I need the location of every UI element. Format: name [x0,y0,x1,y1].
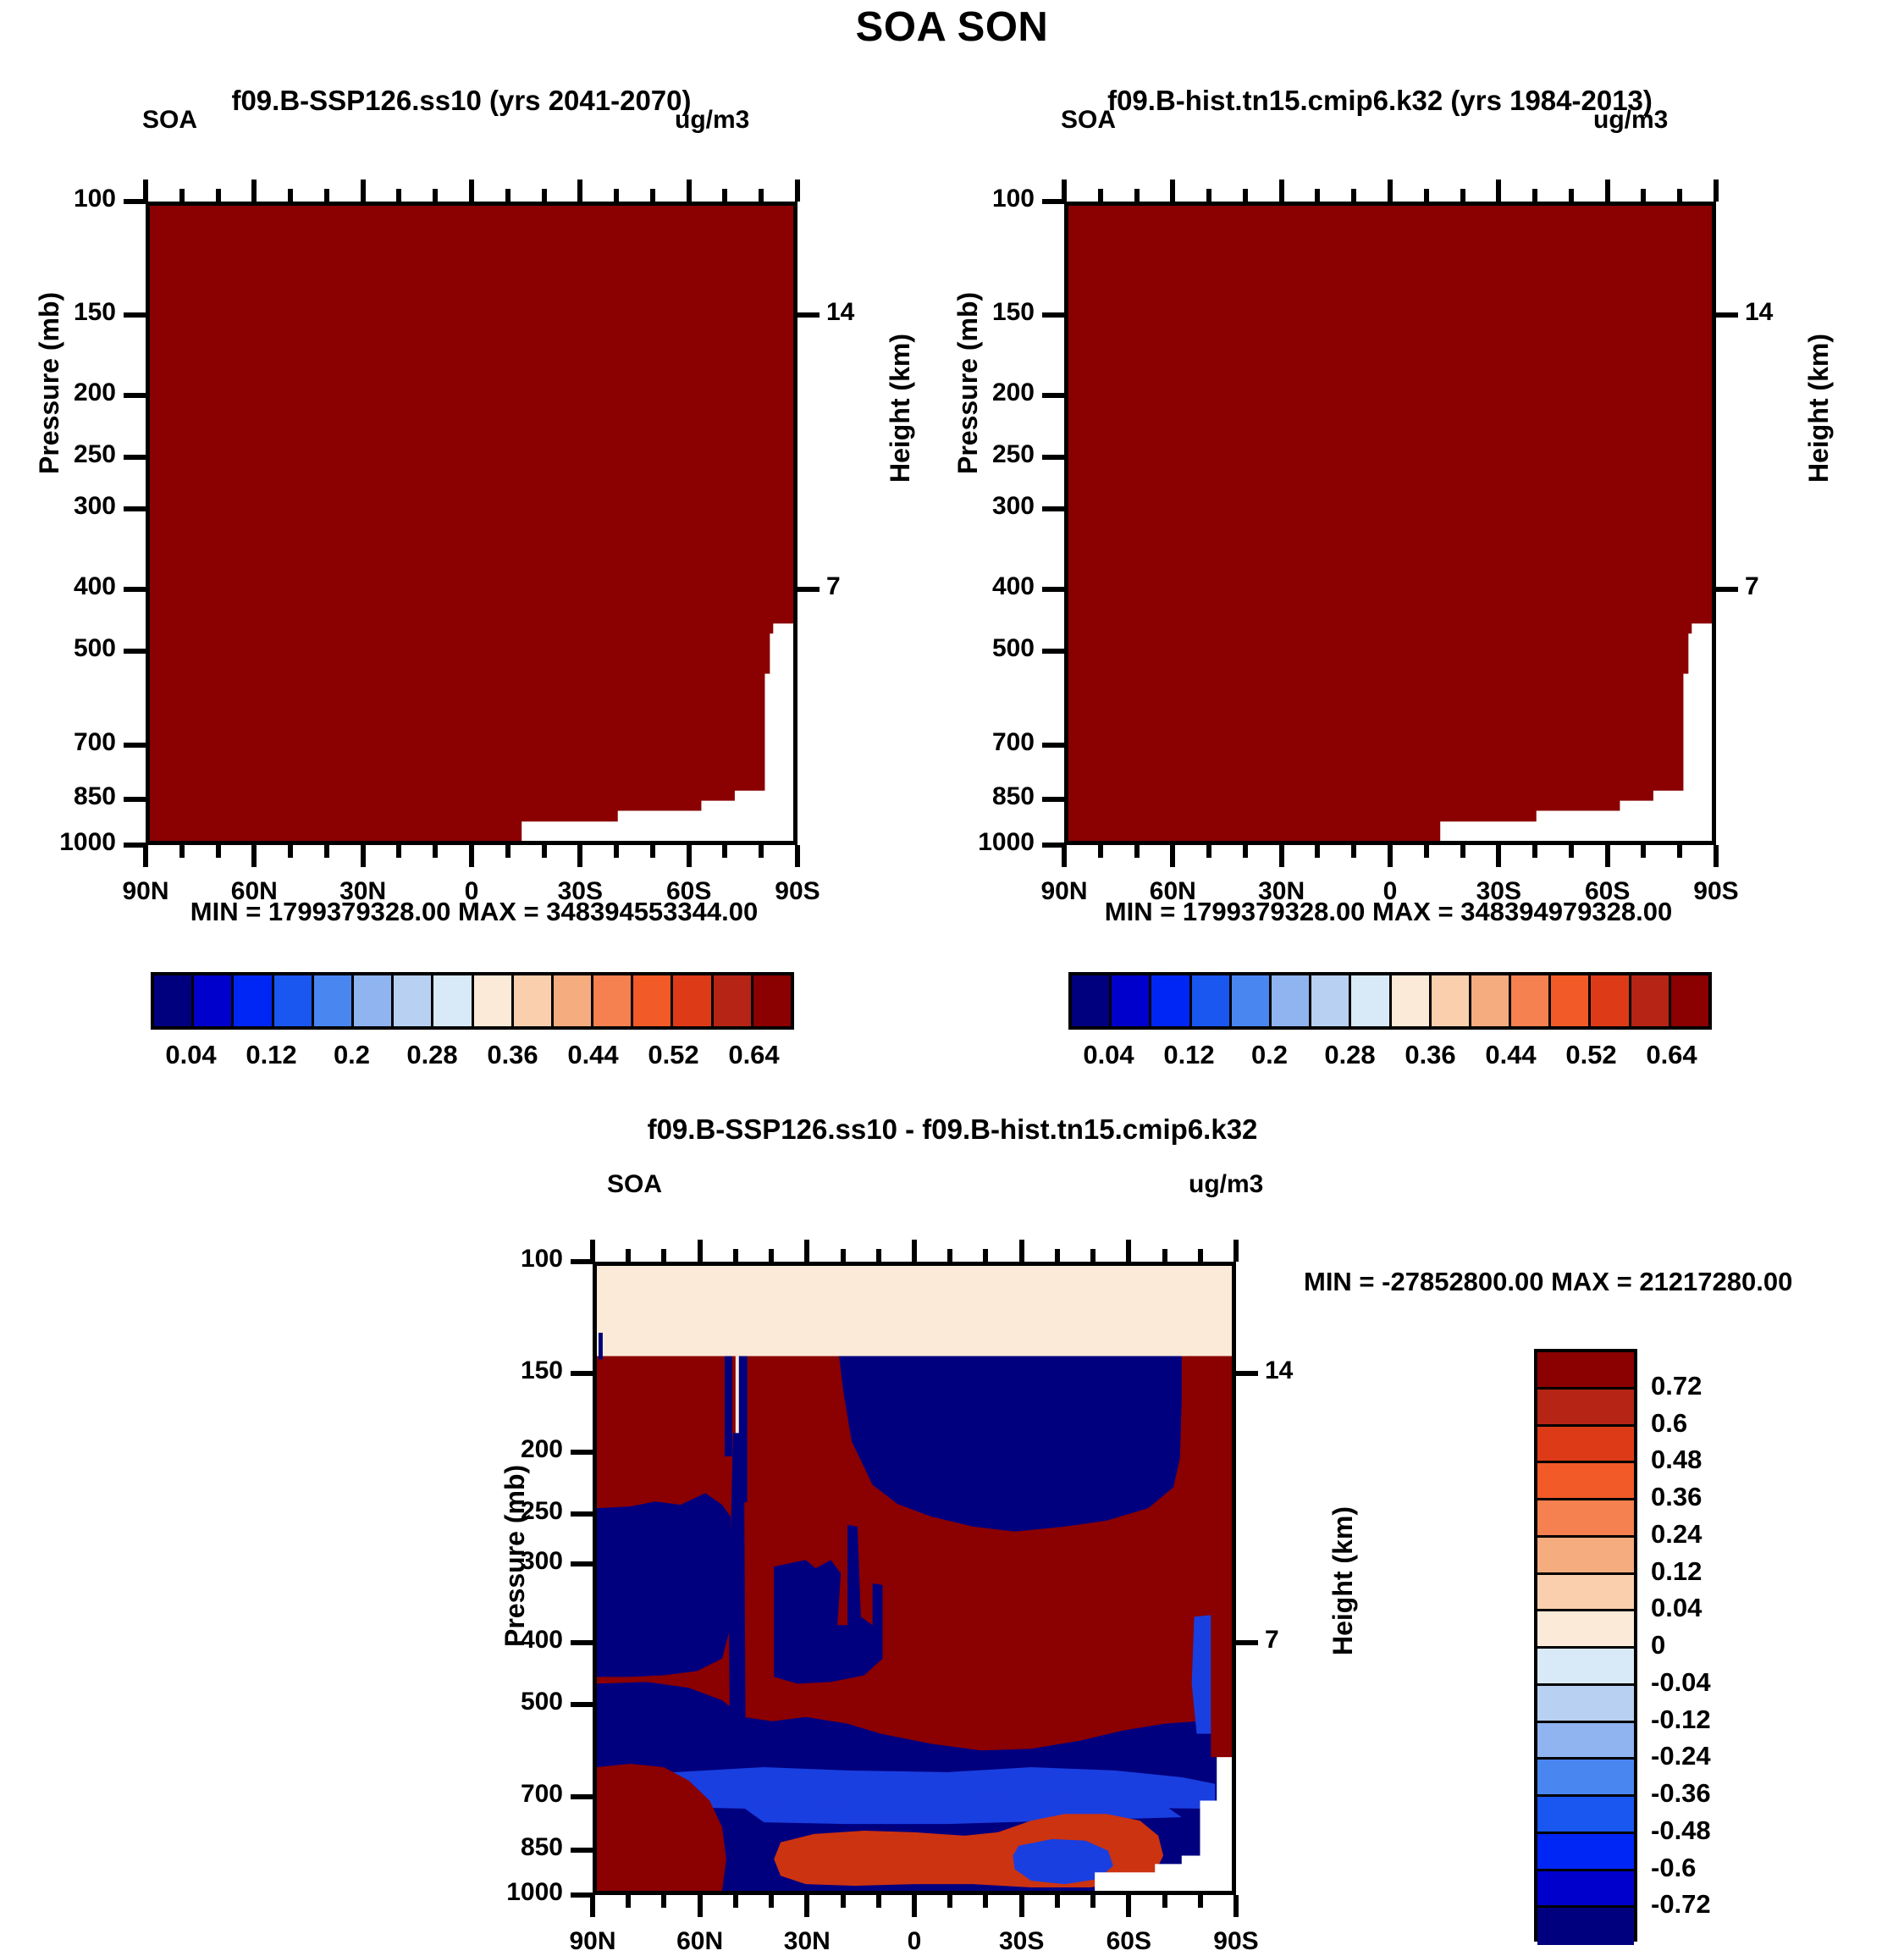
colorbar-cell [154,975,194,1026]
colorbar-tick-label: 0.28 [1324,1040,1375,1070]
colorbar-cell [1151,975,1191,1026]
right-colorbar-labels: 0.040.120.20.280.360.440.520.64 [1068,1040,1712,1074]
lat-minor-tick [216,845,221,858]
pressure-tick [571,1848,593,1853]
lat-minor-tick [1351,845,1356,858]
lat-major-tick [1714,845,1719,867]
legend-tick-label: -0.12 [1651,1705,1711,1735]
lat-minor-tick [626,1895,631,1908]
colorbar-cell [1272,975,1311,1026]
colorbar-cell [1511,975,1551,1026]
colorbar-cell [1591,975,1631,1026]
lat-major-tick [1233,1895,1239,1917]
right-height-axis-title: Height (km) [1803,334,1835,483]
colorbar-tick-label: 0.12 [246,1040,296,1070]
lat-minor-tick-top [1460,189,1465,202]
lat-minor-tick [505,845,510,858]
colorbar-cell [1671,975,1708,1026]
pressure-tick [124,393,146,398]
colorbar-cell [1351,975,1391,1026]
lat-minor-tick [1424,845,1429,858]
lat-major-tick-top [795,180,800,202]
legend-cell [1537,1871,1634,1909]
lat-minor-tick [733,1895,738,1908]
colorbar-tick-label: 0.04 [1083,1040,1134,1070]
diff-colorbar[interactable] [1534,1349,1637,1942]
lat-major-tick-top [1019,1240,1024,1262]
colorbar-tick-label: 0.28 [406,1040,457,1070]
colorbar-cell [474,975,514,1026]
pressure-tick-label: 250 [444,1497,563,1526]
lat-major-tick [361,845,366,867]
lat-major-tick-top [1233,1240,1239,1262]
pressure-tick-label: 150 [916,298,1035,327]
right-panel-variable-label: SOA [1061,106,1116,135]
lat-major-tick [795,845,800,867]
legend-tick-label: -0.24 [1651,1741,1711,1771]
colorbar-cell [514,975,554,1026]
pressure-tick [124,743,146,748]
lat-major-tick [143,845,148,867]
legend-cell [1537,1723,1634,1760]
lat-minor-tick-top [983,1249,988,1262]
lat-minor-tick [947,1895,952,1908]
pressure-tick-label: 250 [0,440,116,469]
legend-tick-label: -0.36 [1651,1778,1711,1809]
lat-major-tick [1126,1895,1131,1917]
lat-major-tick-top [1170,180,1175,202]
lat-minor-tick [179,845,185,858]
lat-major-tick-top [143,180,148,202]
lat-major-tick [1279,845,1284,867]
pressure-tick [1042,743,1064,748]
pressure-tick [1042,649,1064,654]
colorbar-tick-label: 0.2 [334,1040,370,1070]
lat-minor-tick [1098,845,1103,858]
lat-major-tick [469,845,474,867]
lat-major-tick-top [361,180,366,202]
pressure-tick-label: 500 [0,634,116,663]
lat-minor-tick [614,845,619,858]
lat-minor-tick [661,1895,666,1908]
lat-minor-tick-top [1641,189,1646,202]
lat-minor-tick-top [1315,189,1320,202]
lat-minor-tick-top [769,1249,774,1262]
legend-tick-label: 0.6 [1651,1408,1687,1439]
diff-panel-variable-label: SOA [607,1170,662,1199]
lat-major-tick-top [469,180,474,202]
colorbar-cell [314,975,354,1026]
lat-minor-tick [542,845,547,858]
pressure-tick-label: 1000 [916,828,1035,857]
pressure-tick-label: 400 [444,1626,563,1655]
pressure-tick-label: 1000 [0,828,116,857]
colorbar-tick-label: 0.36 [1405,1040,1455,1070]
pressure-tick [571,1511,593,1517]
height-tick [1716,312,1738,318]
lat-minor-tick-top [1162,1249,1167,1262]
lat-major-tick [1019,1895,1024,1917]
lat-major-tick [698,1895,703,1917]
colorbar-cell [234,975,273,1026]
left-panel-variable-label: SOA [142,106,197,135]
pressure-tick [124,649,146,654]
right-panel-units-label: ug/m3 [1593,106,1668,135]
lat-minor-tick [1134,845,1140,858]
pressure-tick [1042,797,1064,802]
pressure-tick-label: 400 [916,572,1035,601]
lat-major-tick [912,1895,917,1917]
colorbar-cell [633,975,673,1026]
lat-minor-tick [1641,845,1646,858]
colorbar-cell [394,975,433,1026]
legend-cell [1537,1427,1634,1464]
lat-minor-tick-top [733,1249,738,1262]
lat-minor-tick-top [216,189,221,202]
lat-minor-tick [1198,1895,1203,1908]
colorbar-cell [1112,975,1151,1026]
legend-tick-label: -0.6 [1651,1853,1696,1883]
lat-minor-tick [1460,845,1465,858]
lat-minor-tick-top [1351,189,1356,202]
pressure-tick [124,797,146,802]
lat-tick-label: 90S [721,877,874,906]
pressure-tick [124,312,146,318]
lat-minor-tick [396,845,401,858]
lat-major-tick [577,845,582,867]
lat-minor-tick [1206,845,1211,858]
lat-minor-tick-top [1055,1249,1060,1262]
legend-tick-label: 0.24 [1651,1519,1702,1550]
lat-major-tick-top [698,1240,703,1262]
legend-tick-label: -0.72 [1651,1889,1711,1920]
pressure-tick [1042,455,1064,460]
colorbar-cell [714,975,753,1026]
lat-minor-tick-top [288,189,293,202]
lat-major-tick [804,1895,809,1917]
legend-cell [1537,1908,1634,1945]
lat-major-tick [1170,845,1175,867]
left-colorbar-labels: 0.040.120.20.280.360.440.520.64 [151,1040,794,1074]
lat-major-tick-top [590,1240,595,1262]
colorbar-cell [1631,975,1671,1026]
lat-minor-tick [324,845,329,858]
pressure-tick-label: 500 [916,634,1035,663]
lat-minor-tick [1243,845,1248,858]
lat-major-tick-top [687,180,692,202]
pressure-tick [571,1702,593,1707]
lat-major-tick-top [577,180,582,202]
colorbar-cell [194,975,234,1026]
pressure-tick [1042,587,1064,592]
lat-minor-tick-top [1098,189,1103,202]
lat-minor-tick [1677,845,1682,858]
colorbar-tick-label: 0.2 [1251,1040,1288,1070]
diff-panel-minmax: MIN = -27852800.00 MAX = 21217280.00 [1304,1267,1896,1297]
lat-minor-tick [876,1895,881,1908]
diff-contour-field [597,1266,1232,1891]
lat-major-tick [687,845,692,867]
lat-minor-tick [650,845,655,858]
legend-tick-label: 0.04 [1651,1593,1702,1623]
height-tick [797,587,820,592]
lat-major-tick-top [1496,180,1501,202]
lat-minor-tick-top [1134,189,1140,202]
lat-minor-tick-top [542,189,547,202]
colorbar-cell [354,975,394,1026]
lat-minor-tick-top [1424,189,1429,202]
colorbar-cell [753,975,791,1026]
diff-panel-units-label: ug/m3 [1189,1170,1263,1199]
left-panel-plot[interactable] [146,202,797,845]
pressure-tick [571,1561,593,1566]
height-tick [797,312,820,318]
lat-major-tick-top [912,1240,917,1262]
height-tick-label: 14 [1265,1356,1333,1385]
lat-major-tick-top [804,1240,809,1262]
legend-cell [1537,1686,1634,1723]
left-panel-missing-region [150,206,793,841]
pressure-tick [1042,506,1064,511]
legend-tick-label: -0.04 [1651,1667,1711,1698]
lat-minor-tick-top [433,189,438,202]
lat-major-tick-top [251,180,257,202]
colorbar-tick-label: 0.12 [1163,1040,1214,1070]
pressure-tick [1042,312,1064,318]
pressure-tick-label: 700 [916,728,1035,757]
lat-minor-tick [983,1895,988,1908]
colorbar-tick-label: 0.36 [487,1040,538,1070]
lat-minor-tick [1162,1895,1167,1908]
lat-minor-tick-top [505,189,510,202]
pressure-tick [124,506,146,511]
legend-cell [1537,1649,1634,1686]
legend-cell [1537,1797,1634,1834]
lat-minor-tick-top [661,1249,666,1262]
colorbar-tick-label: 0.44 [1485,1040,1536,1070]
pressure-tick-label: 700 [444,1780,563,1809]
colorbar-tick-label: 0.64 [1646,1040,1697,1070]
height-tick-label: 7 [1265,1626,1333,1655]
pressure-tick [124,455,146,460]
pressure-tick [1042,393,1064,398]
lat-minor-tick-top [650,189,655,202]
colorbar-cell [1192,975,1232,1026]
left-panel-units-label: ug/m3 [675,106,749,135]
lat-minor-tick-top [841,1249,846,1262]
lat-minor-tick [841,1895,846,1908]
lat-minor-tick [769,1895,774,1908]
pressure-tick [571,1450,593,1455]
height-tick [1236,1640,1258,1645]
lat-major-tick-top [1126,1240,1131,1262]
left-colorbar[interactable] [151,972,794,1030]
lat-minor-tick-top [1569,189,1574,202]
pressure-tick-label: 200 [0,378,116,407]
pressure-tick [571,1640,593,1645]
lat-minor-tick-top [876,1249,881,1262]
legend-cell [1537,1352,1634,1390]
colorbar-cell [673,975,713,1026]
pressure-tick-label: 500 [444,1688,563,1716]
lat-major-tick [251,845,257,867]
pressure-tick-label: 700 [0,728,116,757]
legend-tick-label: -0.48 [1651,1815,1711,1846]
lat-minor-tick [1315,845,1320,858]
lat-minor-tick [433,845,438,858]
lat-major-tick [1496,845,1501,867]
pressure-tick-label: 300 [916,492,1035,521]
pressure-tick-label: 850 [0,782,116,811]
right-panel-missing-region [1068,206,1712,841]
legend-tick-label: 0 [1651,1630,1665,1660]
pressure-tick-label: 100 [0,185,116,213]
height-tick [1236,1371,1258,1376]
pressure-tick-label: 850 [444,1833,563,1862]
lat-tick-label: 90S [1160,1927,1312,1956]
lat-minor-tick-top [759,189,764,202]
lat-minor-tick-top [1677,189,1682,202]
legend-tick-label: 0.36 [1651,1482,1702,1512]
lat-minor-tick [288,845,293,858]
lat-minor-tick-top [324,189,329,202]
colorbar-cell [1432,975,1471,1026]
colorbar-tick-label: 0.04 [165,1040,216,1070]
lat-minor-tick-top [722,189,727,202]
height-tick [1716,587,1738,592]
legend-cell [1537,1463,1634,1500]
right-panel-plot[interactable] [1064,202,1716,845]
legend-cell [1537,1538,1634,1575]
height-tick-label: 7 [1745,572,1813,601]
lat-minor-tick [759,845,764,858]
pressure-tick [571,1371,593,1376]
legend-tick-label: 0.72 [1651,1371,1702,1401]
lat-major-tick-top [1605,180,1610,202]
legend-cell [1537,1390,1634,1427]
lat-minor-tick-top [1243,189,1248,202]
legend-cell [1537,1500,1634,1538]
lat-minor-tick [1569,845,1574,858]
colorbar-cell [1551,975,1591,1026]
lat-minor-tick-top [614,189,619,202]
lat-minor-tick-top [1198,1249,1203,1262]
lat-major-tick-top [1714,180,1719,202]
diff-panel-plot[interactable] [593,1262,1236,1895]
legend-cell [1537,1760,1634,1797]
pressure-tick-label: 300 [0,492,116,521]
colorbar-tick-label: 0.52 [648,1040,698,1070]
colorbar-tick-label: 0.44 [567,1040,618,1070]
lat-major-tick [1062,845,1067,867]
legend-cell [1537,1834,1634,1871]
pressure-tick-label: 850 [916,782,1035,811]
lat-major-tick-top [1279,180,1284,202]
height-tick-label: 7 [826,572,894,601]
legend-cell [1537,1575,1634,1612]
legend-tick-label: 0.12 [1651,1556,1702,1587]
colorbar-cell [1392,975,1432,1026]
pressure-tick-label: 250 [916,440,1035,469]
lat-major-tick-top [1062,180,1067,202]
colorbar-cell [274,975,314,1026]
lat-minor-tick-top [1206,189,1211,202]
lat-major-tick [1388,845,1393,867]
pressure-tick-label: 300 [444,1547,563,1576]
pressure-tick [571,1794,593,1799]
diff-colorbar-labels: 0.720.60.480.360.240.120.040-0.04-0.12-0… [1651,1349,1820,1942]
pressure-tick-label: 100 [444,1245,563,1274]
lat-minor-tick [1090,1895,1095,1908]
lat-minor-tick-top [396,189,401,202]
lat-major-tick [1605,845,1610,867]
left-height-axis-title: Height (km) [885,334,916,483]
colorbar-cell [593,975,633,1026]
lat-major-tick-top [1388,180,1393,202]
colorbar-cell [1311,975,1351,1026]
colorbar-cell [433,975,473,1026]
colorbar-cell [1471,975,1511,1026]
height-tick-label: 14 [826,298,894,327]
lat-major-tick [590,1895,595,1917]
pressure-tick-label: 150 [0,298,116,327]
height-tick-label: 14 [1745,298,1813,327]
pressure-tick-label: 200 [444,1435,563,1464]
pressure-tick-label: 1000 [444,1878,563,1907]
pressure-tick [124,587,146,592]
colorbar-tick-label: 0.64 [728,1040,779,1070]
pressure-tick-label: 200 [916,378,1035,407]
legend-tick-label: 0.48 [1651,1445,1702,1475]
lat-minor-tick [1532,845,1537,858]
colorbar-tick-label: 0.52 [1565,1040,1616,1070]
lat-minor-tick [722,845,727,858]
legend-cell [1537,1611,1634,1649]
lat-minor-tick-top [626,1249,631,1262]
pressure-tick-label: 150 [444,1356,563,1385]
lat-minor-tick [1055,1895,1060,1908]
pressure-tick-label: 100 [916,185,1035,213]
diff-panel-title: f09.B-SSP126.ss10 - f09.B-hist.tn15.cmip… [508,1113,1397,1146]
colorbar-cell [1072,975,1112,1026]
right-colorbar[interactable] [1068,972,1712,1030]
lat-minor-tick-top [179,189,185,202]
pressure-tick-label: 400 [0,572,116,601]
lat-minor-tick-top [947,1249,952,1262]
page-title: SOA SON [0,3,1904,51]
lat-minor-tick-top [1090,1249,1095,1262]
colorbar-cell [554,975,593,1026]
lat-minor-tick-top [1532,189,1537,202]
colorbar-cell [1232,975,1272,1026]
lat-tick-label: 90S [1640,877,1792,906]
